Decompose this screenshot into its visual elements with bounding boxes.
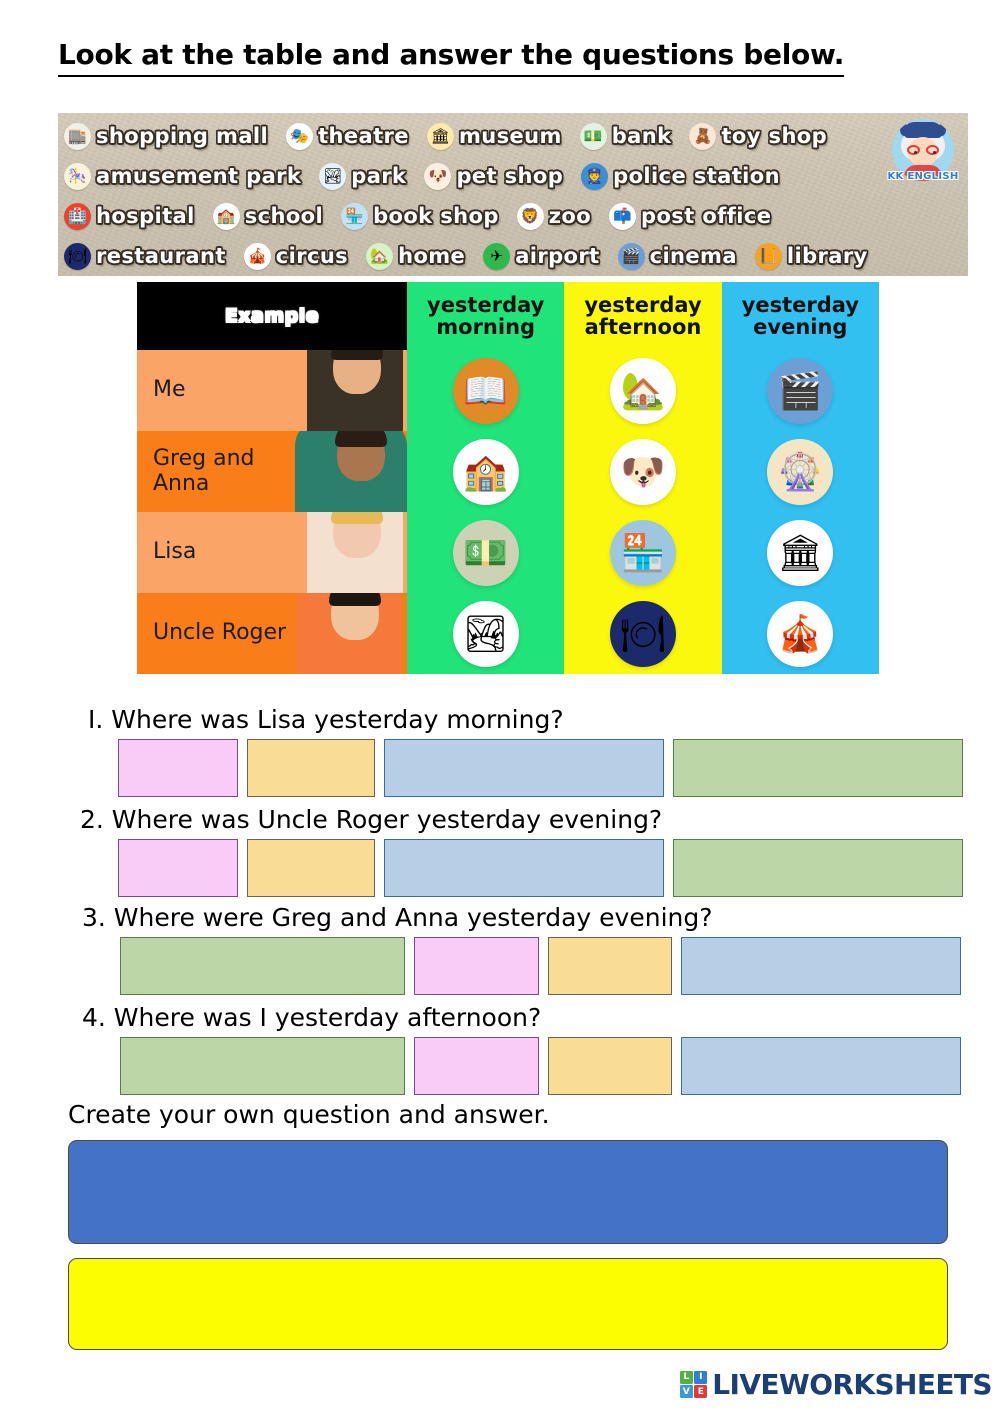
zoo-icon: 🦁 [517,203,544,230]
book-shop-icon: 🏪 [341,203,368,230]
vocab-item-pet-shop: 🐶pet shop [424,163,563,190]
question-text-2: 2. Where was Uncle Roger yesterday eveni… [80,805,1000,834]
table-header-example: Example [137,282,407,350]
tile-l: L [680,1371,693,1384]
vocab-label: theatre [318,124,409,148]
answer-input-q1-4[interactable] [673,739,963,797]
schedule-table: Example yesterday morning yesterday afte… [136,281,880,673]
answer-input-q4-3[interactable] [548,1037,672,1095]
table-row-name-1: Me [137,350,407,431]
answer-input-q4-2[interactable] [414,1037,539,1095]
answer-input-q1-2[interactable] [247,739,375,797]
vocab-label: police station [613,164,780,188]
vocab-label: pet shop [456,164,563,188]
vocab-label: toy shop [721,124,827,148]
answer-input-q4-4[interactable] [681,1037,961,1095]
vocab-label: school [245,204,323,228]
vocab-label: restaurant [96,244,226,268]
home-icon: 🏡 [366,243,393,270]
vocab-item-bank: 💵bank [580,123,672,150]
question-block-4: 4. Where was I yesterday afternoon? [0,1003,1000,1095]
table-cell-morning-2: 🏫 [407,431,564,512]
young-man-glasses-photo [291,350,407,431]
answer-input-q2-4[interactable] [673,839,963,897]
worksheet-page: Look at the table and answer the questio… [0,0,1000,1413]
theatre-icon: 🎭 [286,123,313,150]
amusement-park-icon: 🎡 [767,439,833,505]
vocab-item-theatre: 🎭theatre [286,123,409,150]
school-icon: 🏫 [213,203,240,230]
vocab-row-2: 🎠amusement park🏞park🐶pet shop👮police sta… [64,156,968,196]
header-afternoon-line2: afternoon [584,316,701,338]
vocab-label: airport [515,244,599,268]
table-header-afternoon: yesterday afternoon [564,282,721,350]
vocab-label: zoo [549,204,591,228]
park-icon: 🏞 [319,163,346,190]
kk-english-label: KK ENGLISH [887,171,958,182]
table-header-row: Example yesterday morning yesterday afte… [137,282,879,350]
two-children-photo [291,431,407,512]
page-title: Look at the table and answer the questio… [58,38,844,77]
bank-icon: 💵 [580,123,607,150]
table-evening-column: 🎬🎡🏛🎪 [722,350,879,674]
vocab-item-police-station: 👮police station [581,163,780,190]
header-morning-line1: yesterday [427,294,544,316]
create-your-own-label: Create your own question and answer. [68,1100,550,1129]
table-cell-evening-3: 🏛 [722,512,879,593]
home-icon: 🏡 [610,358,676,424]
library-icon: 📙 [755,243,782,270]
table-header-morning: yesterday morning [407,282,564,350]
table-body: MeGreg and AnnaLisaUncle Roger 📖🏫💵🏞 🏡🐶🏪🍽… [137,350,879,674]
vocab-item-shopping-mall: 🏬shopping mall [64,123,268,150]
answer-input-q3-3[interactable] [548,937,672,995]
vocab-item-cinema: 🎬cinema [618,243,737,270]
person-name: Me [153,378,186,402]
museum-icon: 🏛 [427,123,454,150]
circus-icon: 🎪 [244,243,271,270]
vocab-label: bank [612,124,672,148]
tile-i: I [694,1371,707,1384]
vocab-item-book-shop: 🏪book shop [341,203,499,230]
vocab-item-hospital: 🏥hospital [64,203,195,230]
answer-input-q2-3[interactable] [384,839,664,897]
vocab-label: book shop [373,204,499,228]
man-orange-shirt-photo [291,593,407,674]
toy-shop-icon: 🧸 [689,123,716,150]
person-name: Uncle Roger [153,621,286,645]
vocab-label: shopping mall [96,124,268,148]
vocab-row-4: 🍽restaurant🎪circus🏡home✈airport🎬cinema📙l… [64,236,968,276]
vocab-item-post-office: 📫post office [609,203,771,230]
answer-row-3 [120,937,1000,995]
person-name: Lisa [153,540,196,564]
vocab-item-school: 🏫school [213,203,323,230]
liveworksheets-brand: LIVEWORKSHEETS [712,1368,992,1401]
header-evening-line2: evening [742,316,859,338]
answer-input-q1-1[interactable] [118,739,238,797]
table-cell-morning-1: 📖 [407,350,564,431]
answer-input-q3-4[interactable] [681,937,961,995]
question-block-1: I. Where was Lisa yesterday morning? [0,705,1000,797]
question-block-3: 3. Where were Greg and Anna yesterday ev… [0,903,1000,995]
question-block-2: 2. Where was Uncle Roger yesterday eveni… [0,805,1000,897]
table-afternoon-column: 🏡🐶🏪🍽 [564,350,721,674]
answer-row-4 [120,1037,1000,1095]
book-shop-icon: 🏪 [610,520,676,586]
vocab-label: home [398,244,465,268]
restaurant-icon: 🍽 [64,243,91,270]
police-station-icon: 👮 [581,163,608,190]
vocab-item-amusement-park: 🎠amusement park [64,163,301,190]
header-evening-line1: yesterday [742,294,859,316]
table-cell-afternoon-4: 🍽 [564,593,721,674]
vocab-item-toy-shop: 🧸toy shop [689,123,827,150]
hospital-icon: 🏥 [64,203,91,230]
table-cell-afternoon-2: 🐶 [564,431,721,512]
create-answer-input[interactable] [68,1258,948,1350]
airport-icon: ✈ [483,243,510,270]
table-cell-afternoon-1: 🏡 [564,350,721,431]
library-icon: 📖 [453,358,519,424]
table-name-column: MeGreg and AnnaLisaUncle Roger [137,350,407,674]
cinema-icon: 🎬 [767,358,833,424]
answer-input-q4-1[interactable] [120,1037,405,1095]
liveworksheets-logo: L I V E LIVEWORKSHEETS [680,1368,992,1401]
restaurant-icon: 🍽 [610,601,676,667]
table-cell-afternoon-3: 🏪 [564,512,721,593]
table-cell-evening-1: 🎬 [722,350,879,431]
answer-input-q2-1[interactable] [118,839,238,897]
tile-v: V [680,1385,693,1398]
vocab-label: park [351,164,406,188]
school-icon: 🏫 [453,439,519,505]
answer-input-q3-1[interactable] [120,937,405,995]
shopping-mall-icon: 🏬 [64,123,91,150]
table-row-name-2: Greg and Anna [137,431,407,512]
vocab-label: library [787,244,868,268]
pet-shop-icon: 🐶 [610,439,676,505]
circus-icon: 🎪 [767,601,833,667]
table-row-name-3: Lisa [137,512,407,593]
vocab-item-airport: ✈airport [483,243,599,270]
tile-e: E [694,1385,707,1398]
post-office-icon: 📫 [609,203,636,230]
header-morning-line2: morning [427,316,544,338]
liveworksheets-tiles-icon: L I V E [680,1371,708,1399]
pet-shop-icon: 🐶 [424,163,451,190]
vocab-item-museum: 🏛museum [427,123,562,150]
answer-input-q2-2[interactable] [247,839,375,897]
vocab-label: cinema [650,244,737,268]
vocab-label: circus [276,244,348,268]
answer-input-q1-3[interactable] [384,739,664,797]
create-question-input[interactable] [68,1140,948,1244]
vocabulary-banner: 🏬shopping mall🎭theatre🏛museum💵bank🧸toy s… [58,113,968,276]
answer-row-1 [118,739,1000,797]
vocab-label: post office [641,204,771,228]
park-icon: 🏞 [453,601,519,667]
vocab-label: amusement park [96,164,301,188]
theatre-icon: 🏛 [767,520,833,586]
vocab-item-restaurant: 🍽restaurant [64,243,226,270]
question-text-3: 3. Where were Greg and Anna yesterday ev… [82,903,1000,932]
vocab-item-park: 🏞park [319,163,406,190]
table-morning-column: 📖🏫💵🏞 [407,350,564,674]
question-text-1: I. Where was Lisa yesterday morning? [88,705,1000,734]
kk-english-logo: KK ENGLISH [884,119,962,197]
bank-icon: 💵 [453,520,519,586]
vocab-label: hospital [96,204,195,228]
table-header-evening: yesterday evening [722,282,879,350]
vocab-item-zoo: 🦁zoo [517,203,591,230]
person-name: Greg and Anna [153,447,303,495]
blonde-girl-photo [291,512,407,593]
vocab-row-3: 🏥hospital🏫school🏪book shop🦁zoo📫post offi… [64,196,968,236]
vocab-item-library: 📙library [755,243,868,270]
table-row-name-4: Uncle Roger [137,593,407,674]
question-text-4: 4. Where was I yesterday afternoon? [82,1003,1000,1032]
vocab-item-home: 🏡home [366,243,465,270]
amusement-park-icon: 🎠 [64,163,91,190]
answer-input-q3-2[interactable] [414,937,539,995]
vocab-row-1: 🏬shopping mall🎭theatre🏛museum💵bank🧸toy s… [64,116,968,156]
cinema-icon: 🎬 [618,243,645,270]
answer-row-2 [118,839,1000,897]
table-cell-evening-4: 🎪 [722,593,879,674]
table-cell-morning-3: 💵 [407,512,564,593]
table-cell-morning-4: 🏞 [407,593,564,674]
header-afternoon-line1: yesterday [584,294,701,316]
vocab-label: museum [459,124,562,148]
table-cell-evening-2: 🎡 [722,431,879,512]
table-header-example-label: Example [225,305,319,327]
vocab-item-circus: 🎪circus [244,243,348,270]
